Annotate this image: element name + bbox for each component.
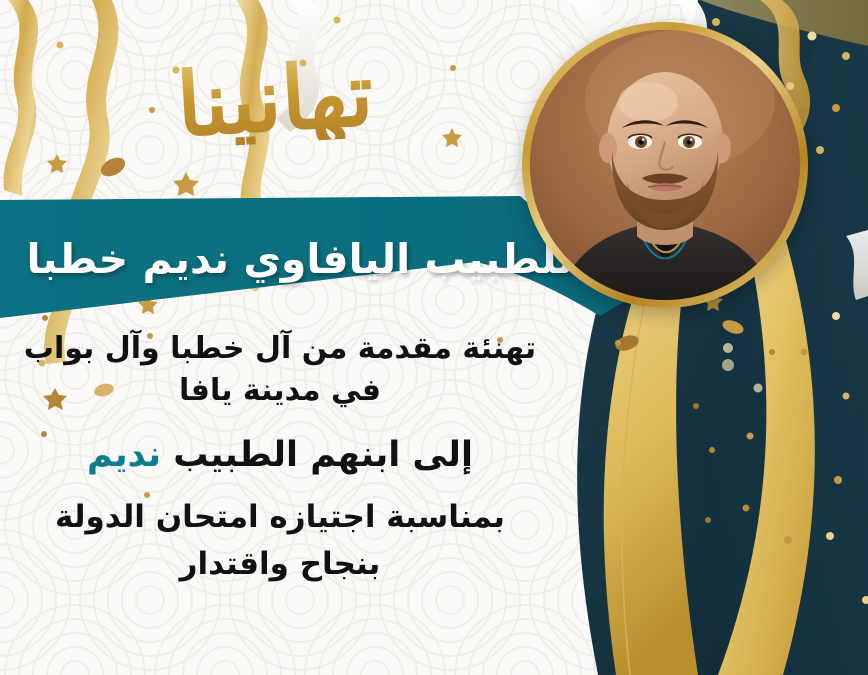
message-name-highlight: نديم xyxy=(87,435,161,475)
greeting-card: للطبيب اليافاوي نديم خطبا تهانينا xyxy=(0,0,868,675)
portrait-frame xyxy=(522,22,808,308)
message-intro-line-2: في مدينة يافا xyxy=(0,372,560,410)
message-body-line-1: بمناسبة اجتيازه امتحان الدولة xyxy=(0,498,560,538)
message-name-line: إلى ابنهم الطبيب نديم xyxy=(0,433,560,478)
banner-title: للطبيب اليافاوي نديم خطبا xyxy=(0,196,560,322)
portrait-photo xyxy=(530,30,800,300)
message-intro-line-1: تهنئة مقدمة من آل خطبا وآل بواب xyxy=(0,330,560,368)
message-name-prefix: إلى ابنهم الطبيب xyxy=(173,435,473,475)
calligraphy-headline: تهانينا xyxy=(138,47,413,151)
message-block: تهنئة مقدمة من آل خطبا وآل بواب في مدينة… xyxy=(0,330,560,585)
message-body-line-2: بنجاح واقتدار xyxy=(0,545,560,585)
